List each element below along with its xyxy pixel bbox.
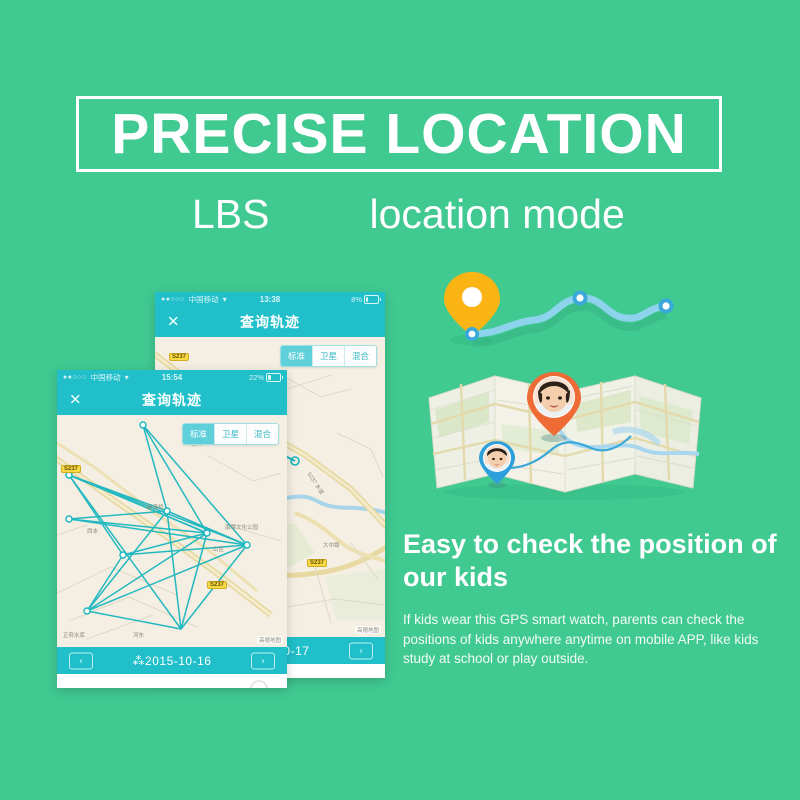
road-label: S237 [61,465,81,473]
kid-photo-blue [484,445,510,471]
kid-photo-orange [534,377,574,417]
subtitle-mode: location mode [370,191,625,238]
date-bar: ‹ ⁂2015-10-16 › [57,647,287,674]
next-day-button[interactable]: › [251,652,275,669]
map-pin-icon [444,272,500,336]
slider-fill [70,688,260,689]
map-note: 山区 [213,545,224,553]
battery-label: 22% [249,373,264,382]
nav-bar: ✕ 查询轨迹 [155,307,385,337]
map-note: 南翠文化公园 [225,523,258,531]
road-label: S237 [307,559,327,567]
photo-pin-blue [478,440,516,488]
map-type-hybrid[interactable]: 混合 [345,346,376,366]
slider-handle[interactable] [251,680,268,688]
battery-icon [364,295,379,304]
subtitle-lbs: LBS [192,191,270,238]
close-icon[interactable]: ✕ [167,315,180,330]
map-type-standard[interactable]: 标准 [183,424,215,444]
map-note: 大中路 [323,541,340,549]
slider-track[interactable] [70,688,274,689]
map-note: 河东 [133,631,144,639]
battery-fill [366,297,368,302]
status-bar: ●●○○○ 中国移动 ▾ 13:38 8% [155,292,385,307]
battery-icon [266,373,281,382]
map-type-switch-front[interactable]: 标准 卫星 混合 [182,423,279,445]
battery-fill [268,375,271,380]
road-label: S237 [169,353,189,361]
map-canvas-front[interactable]: S237 S237 西本 河东 正府水库 新港桥 高德地图 标准 卫星 混合 [57,415,287,647]
subtitle-row: LBS location mode [76,186,722,242]
map-note: 西本 [87,527,98,535]
nav-bar: ✕ 查询轨迹 [57,385,287,415]
nav-title: 查询轨迹 [240,312,300,332]
timeline-slider-front[interactable] [57,674,287,688]
map-type-satellite[interactable]: 卫星 [215,424,247,444]
nav-title: 查询轨迹 [142,390,202,410]
title-frame: PRECISE LOCATION [76,96,722,172]
map-type-hybrid[interactable]: 混合 [247,424,278,444]
map-type-standard[interactable]: 标准 [281,346,313,366]
map-type-satellite[interactable]: 卫星 [313,346,345,366]
next-day-button[interactable]: › [349,642,373,659]
page-title: PRECISE LOCATION [79,99,719,169]
battery-label: 8% [351,295,362,304]
pin-shape-orange [525,370,583,442]
promo-body: If kids wear this GPS smart watch, paren… [403,610,768,669]
prev-day-button[interactable]: ‹ [69,652,93,669]
close-icon[interactable]: ✕ [69,393,82,408]
pin-shape-blue [478,440,516,488]
poster-canvas: PRECISE LOCATION LBS location mode ●●○○○… [0,0,800,800]
map-attribution: 高德地图 [257,636,283,644]
road-label: S237 [207,581,227,589]
battery-indicator: 22% [249,373,281,382]
battery-indicator: 8% [351,295,379,304]
route-illustration [430,268,690,348]
date-label: ⁂2015-10-16 [133,654,212,668]
map-attribution: 高德地图 [355,626,381,634]
photo-pin-orange [525,370,583,442]
status-bar: ●●○○○ 中国移动 ▾ 15:54 22% [57,370,287,385]
promo-heading: Easy to check the position of our kids [403,528,778,595]
map-note: 新港桥 [147,503,164,511]
map-note: 正府水库 [63,631,85,639]
map-type-switch-back[interactable]: 标准 卫星 混合 [280,345,377,367]
